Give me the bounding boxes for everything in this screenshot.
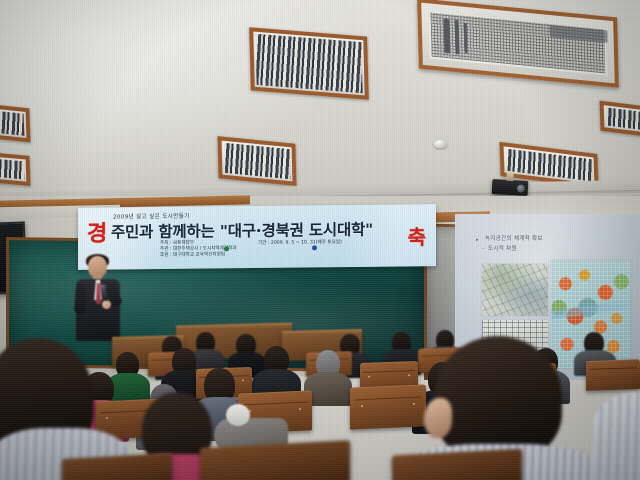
- sponsor-logo-blue-icon: [312, 245, 317, 250]
- slide-bullet-marker: ▸: [476, 237, 479, 243]
- banner-left-character: 경: [87, 224, 107, 246]
- banner-date: 기간 : 2009. 9. 5 ~ 10. 31(매주 토요일): [258, 239, 342, 246]
- lecture-chair: [586, 359, 640, 391]
- ceiling-vent-icon: [249, 27, 369, 99]
- sponsor-logo-green-icon: [224, 246, 229, 251]
- slide-bullet-1: 녹지공간의 체계적 확보: [485, 235, 543, 243]
- banner-organizer-3: 후원 : 대구대학교 교육혁신지원팀: [160, 252, 225, 259]
- presenter-left-arm: [74, 284, 87, 315]
- lecture-chair: [62, 453, 172, 480]
- banner-right-character: 축: [408, 226, 426, 248]
- rolled-paper: [226, 404, 250, 426]
- ceiling-vent-icon: [217, 136, 296, 186]
- smoke-detector-icon: [434, 140, 447, 148]
- presenter: [76, 256, 124, 346]
- photo-scene: ▸ 녹지공간의 체계적 확보 - 도시적 차원 경 축 2009년 살고 싶은 …: [0, 0, 640, 480]
- lecture-chair: [200, 440, 350, 480]
- ceiling-vent-icon: [0, 103, 31, 142]
- lecture-chair: [392, 449, 522, 480]
- event-banner: 경 축 2009년 살고 싶은 도시만들기 주민과 함께하는 "대구·경북권 도…: [78, 204, 436, 270]
- presenter-hand: [102, 300, 111, 309]
- slide-dash-marker: -: [482, 246, 484, 252]
- slide-image-site-sketch: [482, 264, 548, 316]
- lecture-chair: [350, 384, 426, 429]
- slide-bullet-2: 도시적 차원: [488, 245, 517, 253]
- ceiling-projector-icon: [492, 179, 529, 196]
- ceiling-vent-icon: [0, 152, 31, 186]
